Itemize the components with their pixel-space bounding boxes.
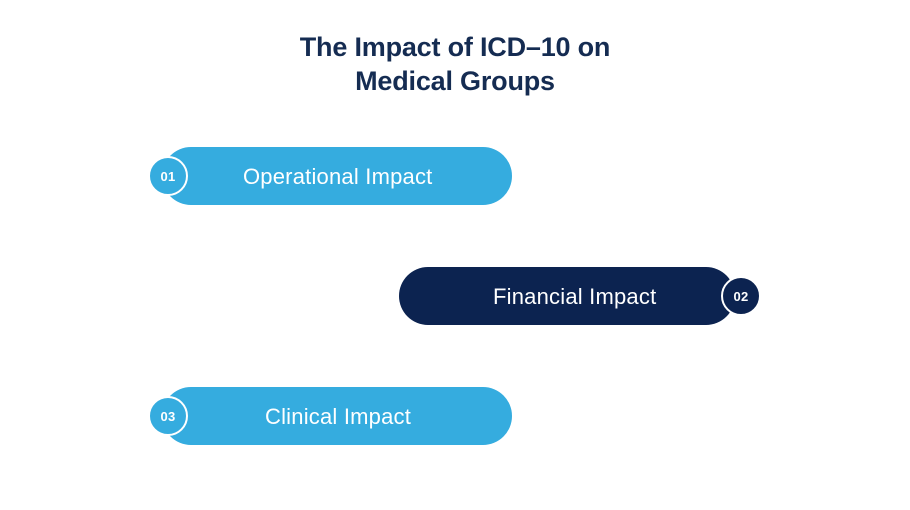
- list-item-operational-impact[interactable]: Operational Impact: [162, 147, 512, 205]
- page-title-line-2: Medical Groups: [0, 64, 910, 98]
- list-item-label: Financial Impact: [493, 286, 656, 308]
- step-number-badge-01: 01: [148, 156, 188, 196]
- list-item-financial-impact[interactable]: Financial Impact: [399, 267, 735, 325]
- list-item-label: Clinical Impact: [265, 406, 411, 428]
- page-title: The Impact of ICD–10 on Medical Groups: [0, 30, 910, 98]
- step-number-text: 03: [160, 409, 175, 424]
- list-item-label: Operational Impact: [243, 166, 432, 188]
- step-number-text: 01: [160, 169, 175, 184]
- step-number-badge-02: 02: [721, 276, 761, 316]
- list-item-clinical-impact[interactable]: Clinical Impact: [162, 387, 512, 445]
- step-number-badge-03: 03: [148, 396, 188, 436]
- slide-canvas: The Impact of ICD–10 on Medical Groups O…: [0, 0, 910, 510]
- page-title-line-1: The Impact of ICD–10 on: [0, 30, 910, 64]
- step-number-text: 02: [733, 289, 748, 304]
